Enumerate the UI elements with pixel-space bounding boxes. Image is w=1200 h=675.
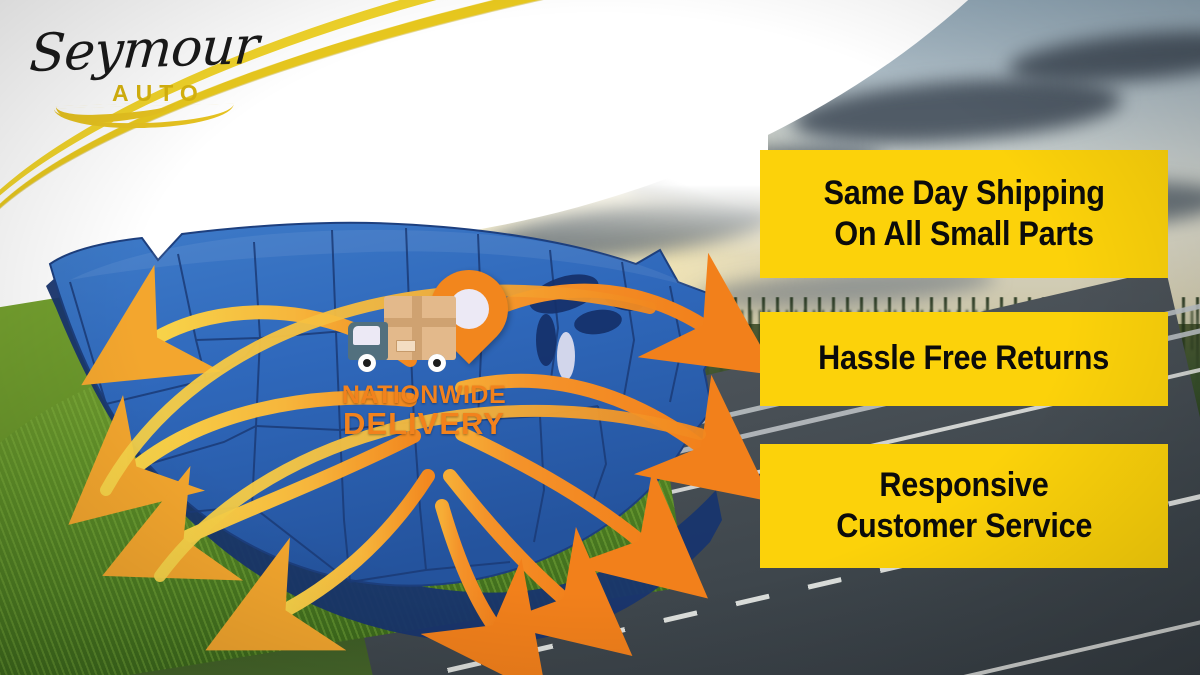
brand-logo[interactable]: Seymour AUTO <box>24 18 234 118</box>
nationwide-line-1: NATIONWIDE <box>334 382 514 408</box>
callout-line: Hassle Free Returns <box>819 338 1110 379</box>
callout-line: Customer Service <box>836 506 1092 547</box>
logo-subtext: AUTO <box>112 80 205 107</box>
callout-line: Responsive <box>879 465 1048 506</box>
logo-wordmark: Seymour <box>28 16 261 84</box>
callout-banner-hassle-free-returns[interactable]: Hassle Free Returns <box>760 312 1168 406</box>
truck-window <box>353 326 380 345</box>
callout-banner-responsive-customer-service[interactable]: Responsive Customer Service <box>760 444 1168 568</box>
marketing-banner: NATIONWIDE DELIVERY Seymour AUTO Same Da… <box>0 0 1200 675</box>
truck-wheel <box>428 354 446 372</box>
delivery-truck-icon <box>348 296 473 376</box>
nationwide-delivery-text: NATIONWIDE DELIVERY <box>334 382 514 440</box>
nationwide-line-2: DELIVERY <box>334 408 514 440</box>
callout-line: Same Day Shipping <box>823 173 1104 214</box>
callout-banner-same-day-shipping[interactable]: Same Day Shipping On All Small Parts <box>760 150 1168 278</box>
truck-box-label <box>396 340 416 352</box>
callout-line: On All Small Parts <box>834 214 1093 255</box>
truck-wheel <box>358 354 376 372</box>
nationwide-delivery-badge: NATIONWIDE DELIVERY <box>320 270 520 450</box>
lake-highlight <box>557 332 575 380</box>
